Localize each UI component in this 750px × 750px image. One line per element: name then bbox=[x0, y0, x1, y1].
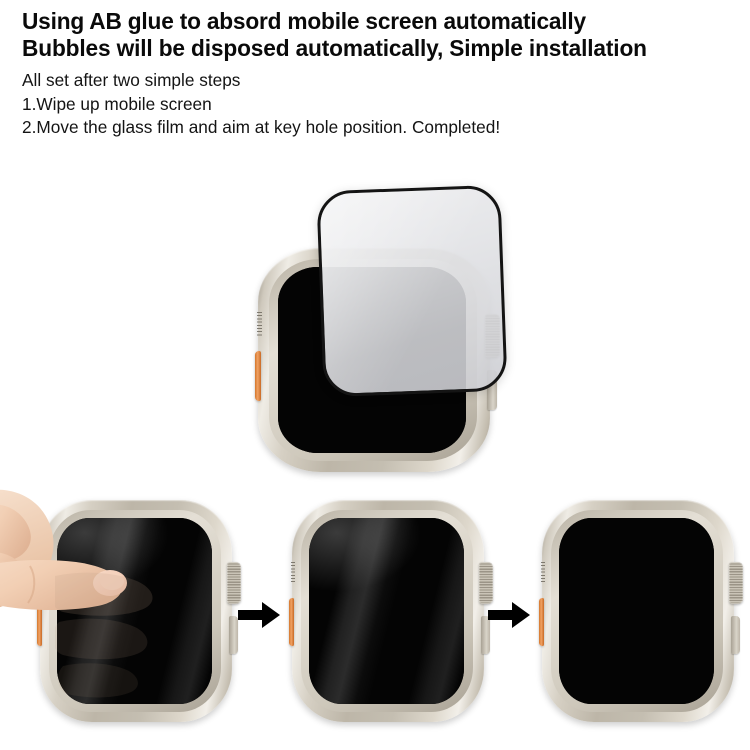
step-panel-3 bbox=[0, 0, 750, 750]
action-button[interactable] bbox=[539, 598, 544, 646]
step-3-watch bbox=[542, 500, 734, 722]
speaker-grille-icon bbox=[541, 562, 545, 584]
screen-surface bbox=[559, 518, 714, 704]
digital-crown[interactable] bbox=[729, 562, 743, 604]
watch-screen bbox=[559, 518, 714, 704]
side-button[interactable] bbox=[731, 616, 740, 654]
product-instruction-graphic: Using AB glue to absord mobile screen au… bbox=[0, 0, 750, 750]
